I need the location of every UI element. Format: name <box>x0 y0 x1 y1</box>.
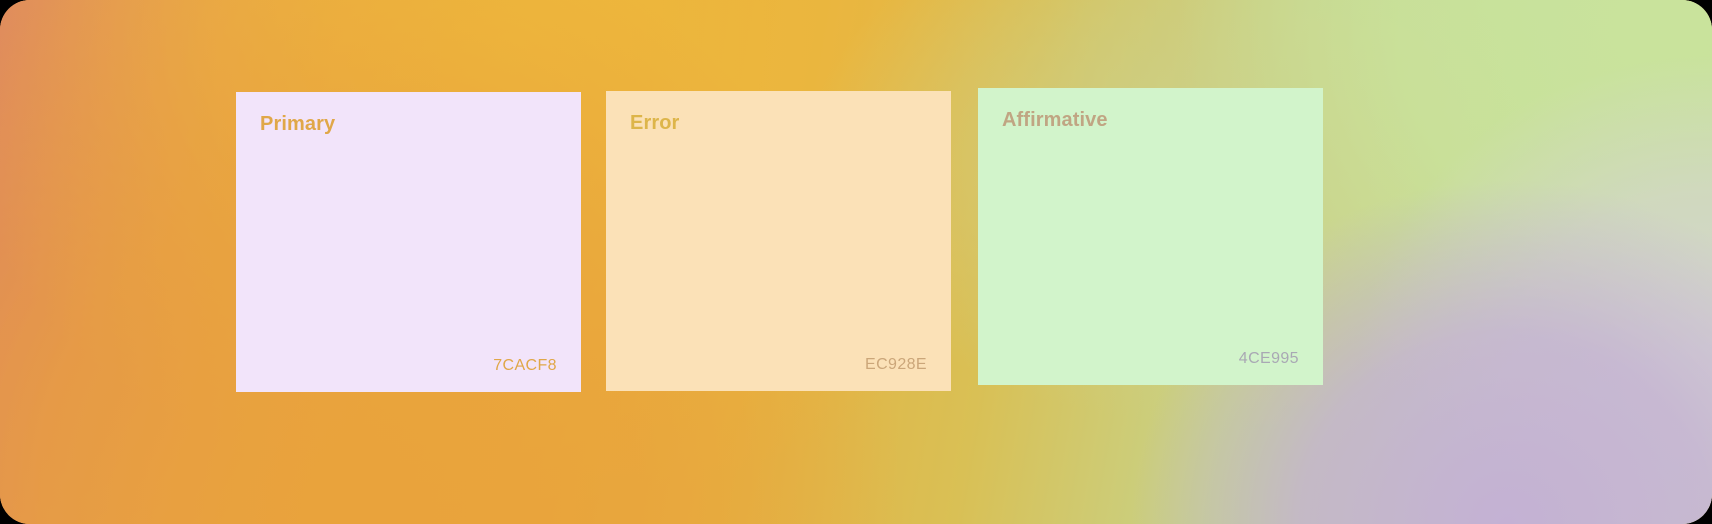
color-swatch-primary[interactable]: Primary 7CACF8 <box>236 92 581 392</box>
swatch-hex-error: EC928E <box>630 357 927 373</box>
color-swatch-error[interactable]: Error EC928E <box>606 91 951 391</box>
swatch-title-error: Error <box>630 113 927 133</box>
color-swatch-affirmative[interactable]: Affirmative 4CE995 <box>978 88 1323 385</box>
gradient-canvas: Primary 7CACF8 Error EC928E Affirmative … <box>0 0 1712 524</box>
swatch-hex-primary: 7CACF8 <box>260 358 557 374</box>
swatch-hex-affirmative: 4CE995 <box>1002 351 1299 367</box>
swatch-title-affirmative: Affirmative <box>1002 110 1299 130</box>
color-swatch-row: Primary 7CACF8 Error EC928E Affirmative … <box>236 88 1323 392</box>
swatch-title-primary: Primary <box>260 114 557 134</box>
